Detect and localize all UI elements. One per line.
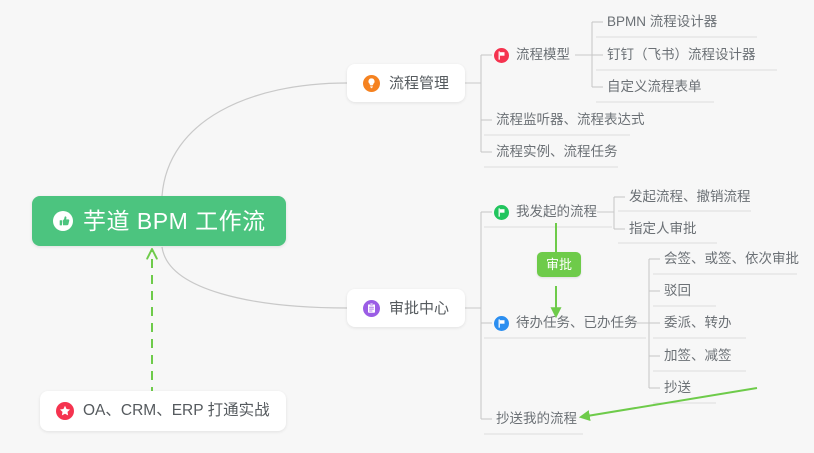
node-process-model-label: 流程模型 (516, 48, 570, 62)
connector-root-to-process-management (162, 83, 347, 196)
approval-badge-label: 审批 (546, 258, 572, 271)
integration-callout-label: OA、CRM、ERP 打通实战 (83, 403, 270, 419)
node-countersign-label: 会签、或签、依次审批 (664, 252, 799, 266)
node-my-started-process-label: 我发起的流程 (516, 205, 597, 219)
node-bpmn-designer-label: BPMN 流程设计器 (607, 15, 717, 29)
node-custom-form[interactable]: 自定义流程表单 (599, 72, 710, 102)
node-custom-form-label: 自定义流程表单 (607, 80, 702, 94)
node-reject-label: 驳回 (664, 284, 691, 298)
node-cc-to-me-label: 抄送我的流程 (496, 412, 577, 426)
node-cc-label: 抄送 (664, 381, 691, 395)
root-node-label: 芋道 BPM 工作流 (83, 210, 266, 233)
node-approval-center-label: 审批中心 (389, 301, 449, 316)
integration-callout[interactable]: OA、CRM、ERP 打通实战 (40, 391, 286, 431)
node-process-instance-label: 流程实例、流程任务 (496, 145, 618, 159)
node-my-started-process[interactable]: 我发起的流程 (488, 197, 605, 227)
root-node[interactable]: 芋道 BPM 工作流 (32, 196, 286, 246)
node-process-model[interactable]: 流程模型 (488, 40, 578, 70)
node-start-cancel-process[interactable]: 发起流程、撤销流程 (621, 182, 759, 212)
node-dingtalk-designer-label: 钉钉（飞书）流程设计器 (607, 48, 756, 62)
node-add-remove-sign-label: 加签、减签 (664, 349, 732, 363)
approval-badge[interactable]: 审批 (537, 252, 581, 277)
node-add-remove-sign[interactable]: 加签、减签 (656, 341, 740, 371)
connector-root-to-approval-center (162, 247, 347, 308)
star-icon (56, 402, 74, 420)
flag-icon (494, 205, 509, 220)
flag-icon (494, 316, 509, 331)
node-start-cancel-process-label: 发起流程、撤销流程 (629, 190, 751, 204)
node-process-instance[interactable]: 流程实例、流程任务 (488, 137, 626, 167)
node-dingtalk-designer[interactable]: 钉钉（飞书）流程设计器 (599, 40, 764, 70)
node-process-listener-label: 流程监听器、流程表达式 (496, 113, 645, 127)
node-todo-done-tasks[interactable]: 待办任务、已办任务 (488, 308, 646, 338)
node-designated-approver-label: 指定人审批 (629, 222, 697, 236)
node-delegate-transfer[interactable]: 委派、转办 (656, 308, 740, 338)
node-bpmn-designer[interactable]: BPMN 流程设计器 (599, 7, 725, 37)
lightbulb-icon (363, 75, 380, 92)
node-designated-approver[interactable]: 指定人审批 (621, 214, 705, 244)
node-todo-done-tasks-label: 待办任务、已办任务 (516, 316, 638, 330)
node-process-listener[interactable]: 流程监听器、流程表达式 (488, 105, 653, 135)
node-reject[interactable]: 驳回 (656, 276, 699, 306)
node-process-management-label: 流程管理 (389, 76, 449, 91)
clipboard-icon (363, 300, 380, 317)
node-approval-center[interactable]: 审批中心 (347, 289, 465, 327)
mindmap-canvas: 芋道 BPM 工作流 流程管理 流程模型 流程监听器、流程表达式 流程实例、流 (0, 0, 814, 453)
node-delegate-transfer-label: 委派、转办 (664, 316, 732, 330)
node-cc[interactable]: 抄送 (656, 373, 699, 403)
thumbs-up-icon (52, 210, 74, 232)
node-countersign[interactable]: 会签、或签、依次审批 (656, 244, 807, 274)
node-process-management[interactable]: 流程管理 (347, 64, 465, 102)
flag-icon (494, 48, 509, 63)
node-cc-to-me[interactable]: 抄送我的流程 (488, 404, 585, 434)
